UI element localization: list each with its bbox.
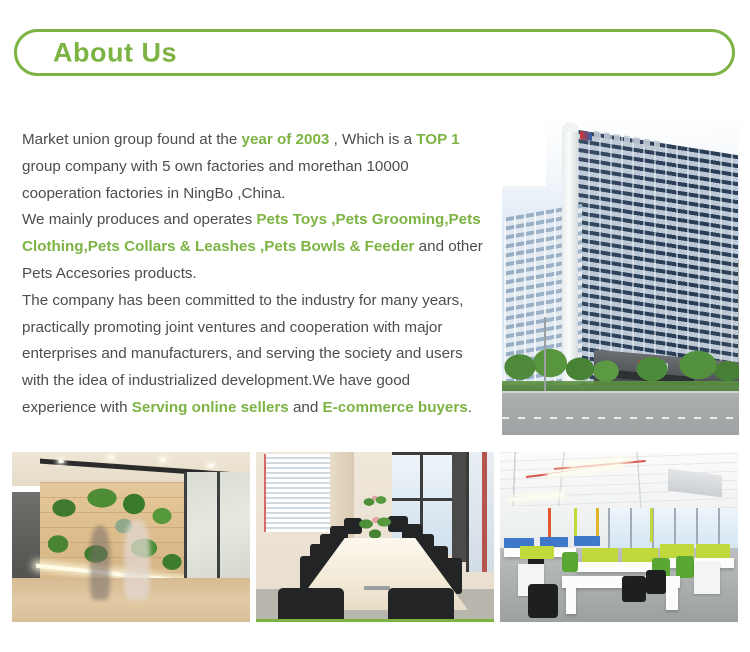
person-walking [124,520,150,600]
conference-meeting-room-photo [256,452,494,622]
page-title: About Us [53,37,177,68]
storage-pedestal [694,562,720,594]
red-accent-strip [482,452,487,572]
office-chair [622,576,646,602]
about-text-run: group company with 5 own factories and m… [22,158,409,202]
window-blinds [264,454,330,532]
column-accent-strip [650,508,653,542]
about-us-description: Market union group found at the year of … [22,127,484,422]
about-paragraph: Market union group found at the year of … [22,127,484,422]
ceiling-downlight-icon [108,456,114,459]
about-highlight-ecommerce-buyers: E-commerce buyers [323,399,468,416]
dark-column [452,452,466,562]
desk-divider-green [696,544,730,558]
glass-door-divider [217,472,220,594]
desk-leg-panel [566,586,576,614]
desk-divider-blue [574,536,600,546]
photo-green-accent-strip [256,619,494,622]
desk-leg-panel [666,584,678,610]
street-light-pole [544,317,546,391]
glass-partition [466,452,494,572]
open-plan-workspace-photo [500,452,738,622]
lobby-side-door [12,492,42,588]
meeting-chair-front [388,588,454,620]
about-text-run: . [468,399,472,416]
desk-divider-green [520,546,554,559]
table-cable-port [364,586,390,590]
office-chair [528,584,558,618]
about-highlight-online-sellers: Serving online sellers [132,399,289,416]
photo-corner-mask [502,120,546,186]
roof-logo-icon [580,131,592,141]
street-trees [502,347,739,391]
about-text-run: We mainly produces and operates [22,211,256,228]
about-text-run: and [289,399,323,416]
ceiling-downlight-icon [160,458,166,461]
about-highlight-top1: TOP 1 [416,131,459,148]
ceiling-downlight-icon [208,464,214,467]
meeting-chair-front [278,588,344,620]
office-chair-green [676,556,694,578]
desk-divider-green [582,548,618,562]
about-text-run: , Which is a [329,131,416,148]
office-chair [646,570,666,594]
office-chair-green [562,552,578,572]
road-markings [502,417,739,419]
about-us-header-box: About Us [14,29,735,76]
person-walking [90,526,110,600]
about-text-run: Market union group found at the [22,131,242,148]
about-highlight-year: year of 2003 [242,131,330,148]
office-lobby-green-wall-photo [12,452,250,622]
tower-corner-cap [562,122,578,132]
ceiling-downlight-icon [58,460,64,463]
company-headquarters-building-photo [502,120,739,435]
